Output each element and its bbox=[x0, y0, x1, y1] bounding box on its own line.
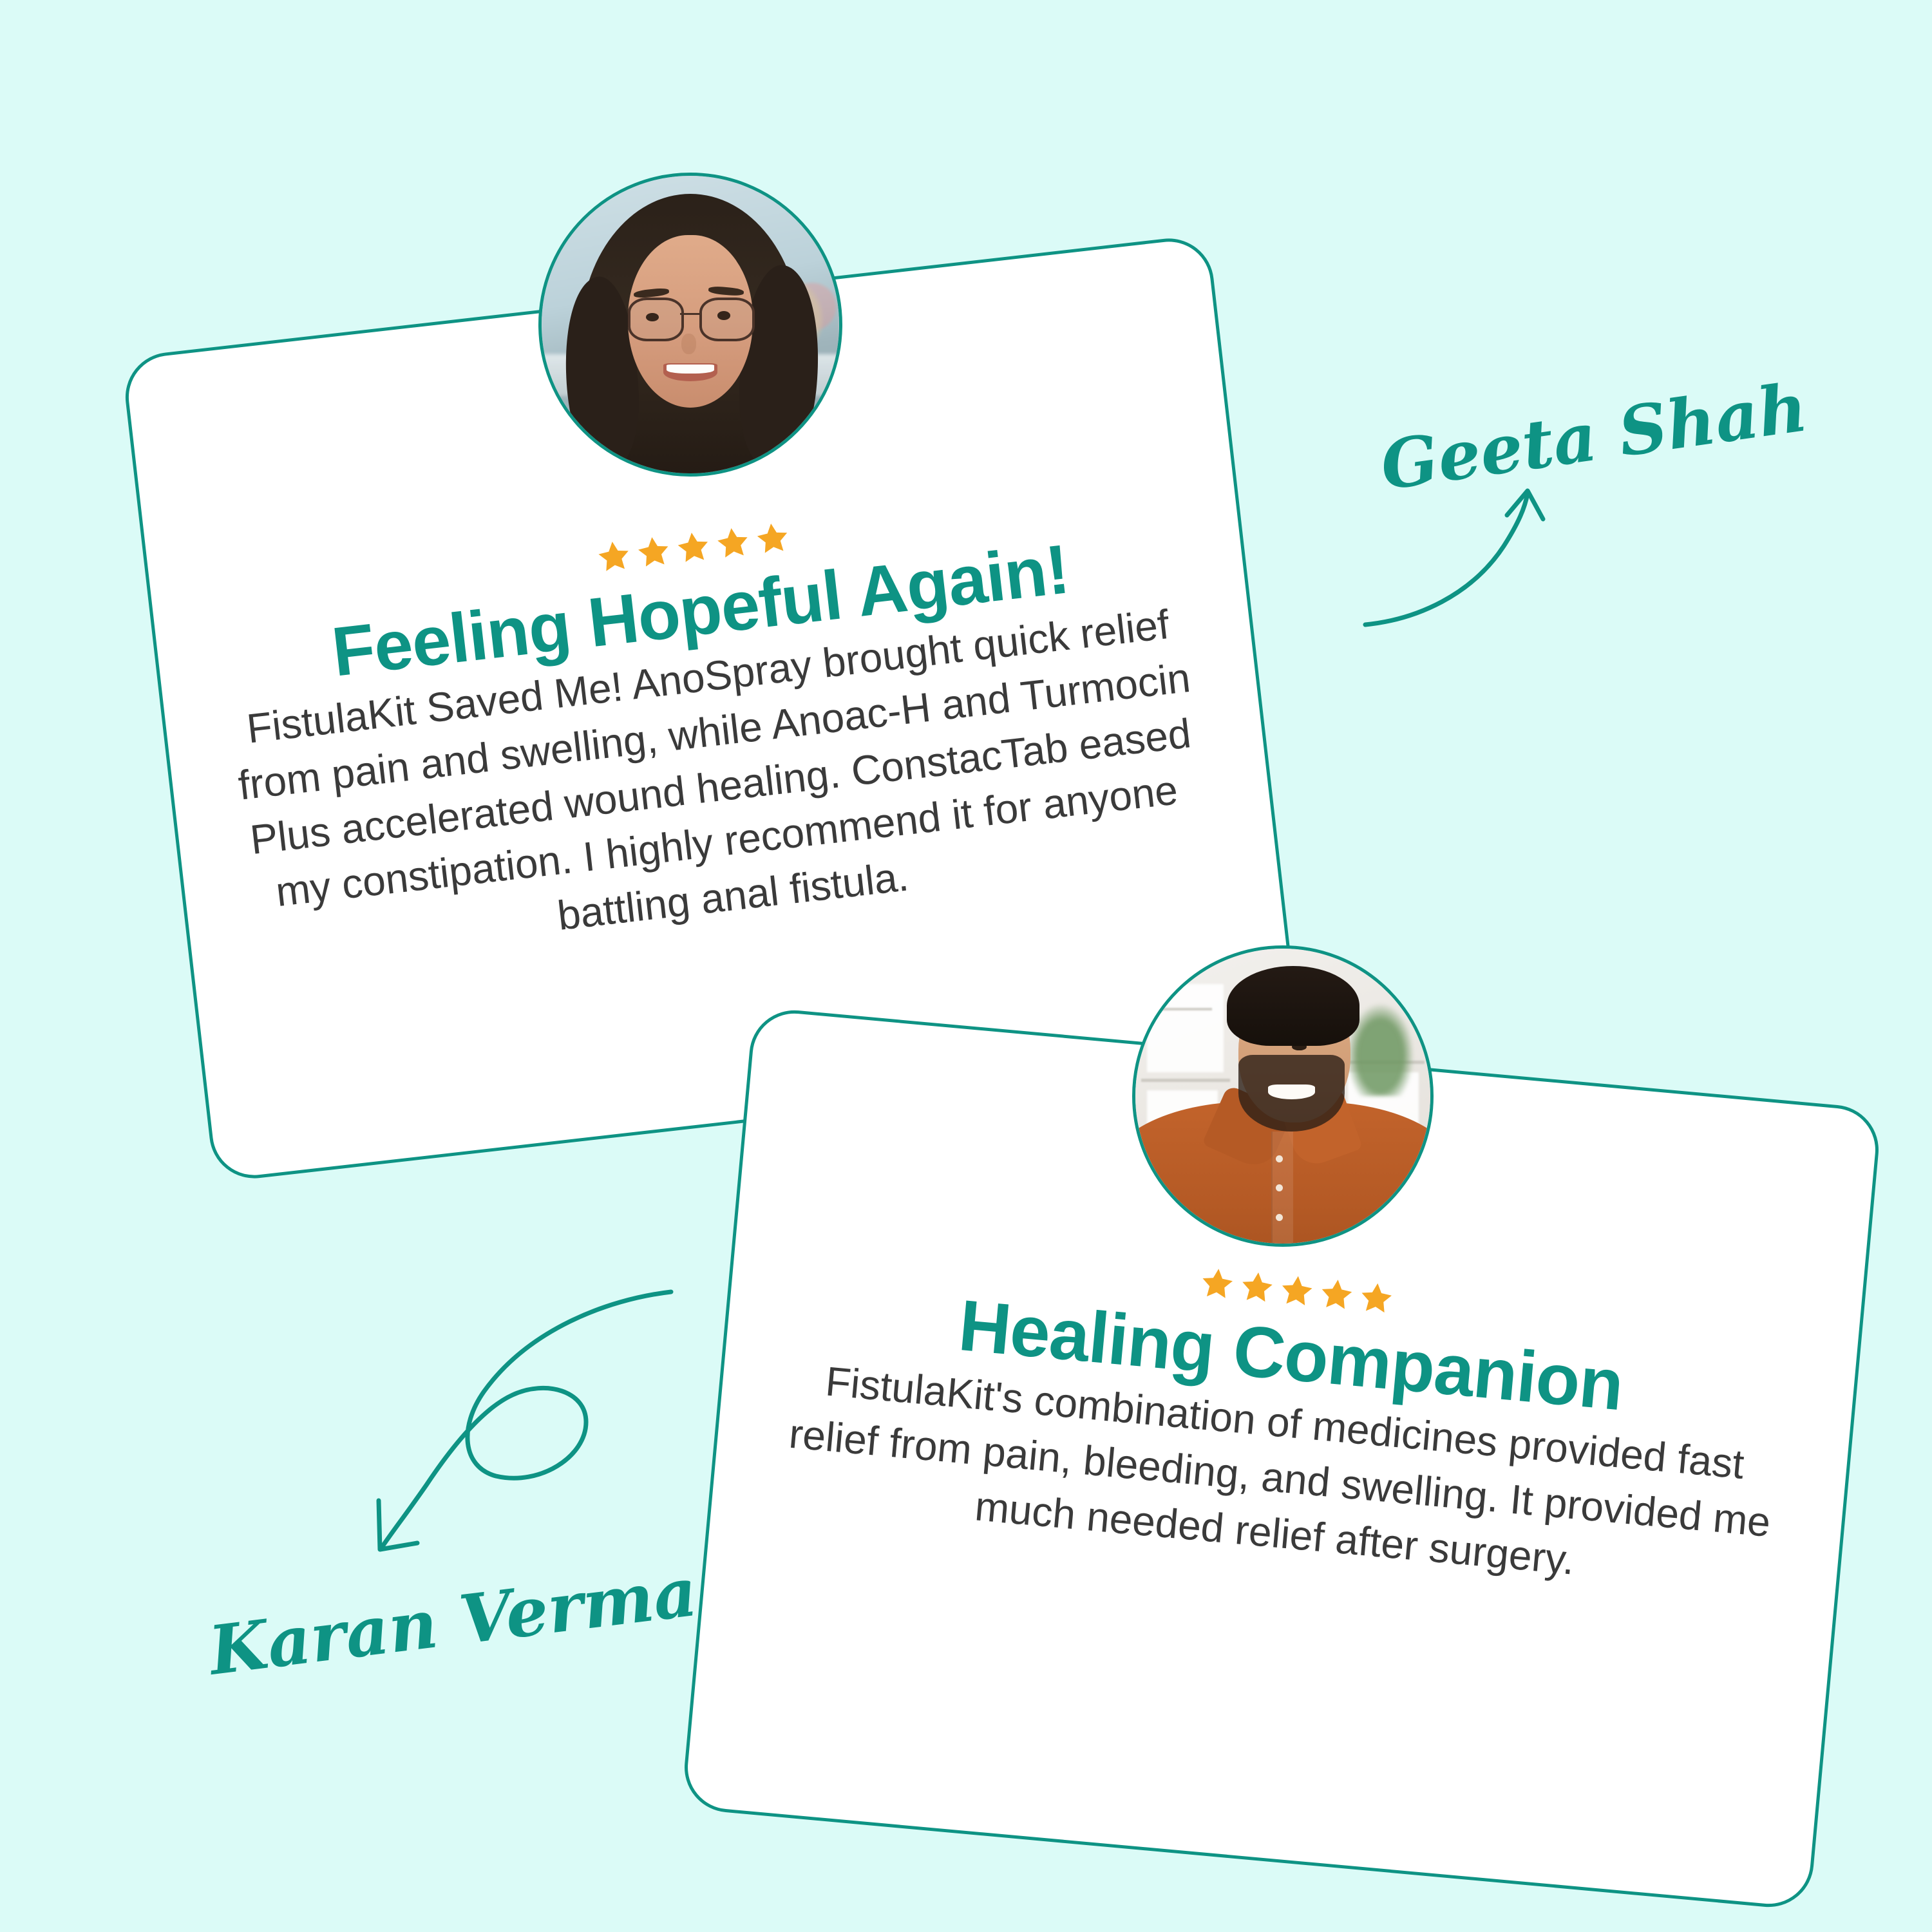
star-icon bbox=[1276, 1271, 1317, 1312]
avatar-geeta-shah bbox=[538, 173, 842, 477]
avatar-photo-woman bbox=[542, 176, 839, 473]
star-icon bbox=[1316, 1274, 1357, 1315]
star-icon bbox=[752, 518, 793, 559]
curved-arrow-up-icon bbox=[1365, 491, 1543, 625]
signature-label-geeta: Geeta Shah bbox=[1376, 367, 1812, 506]
testimonial-poster: Feeling Hopeful Again! FistulaKit Saved … bbox=[0, 0, 1932, 1932]
star-icon bbox=[1197, 1264, 1238, 1304]
star-icon bbox=[712, 522, 753, 563]
testimonial-card-1-content: Feeling Hopeful Again! FistulaKit Saved … bbox=[151, 468, 1277, 985]
star-icon bbox=[593, 536, 634, 578]
star-icon bbox=[1356, 1278, 1397, 1319]
looping-arrow-down-icon bbox=[379, 1292, 671, 1549]
testimonial-card-2-content: Healing Companion FistulaKit's combinati… bbox=[711, 1222, 1860, 1612]
avatar-photo-man bbox=[1135, 949, 1430, 1244]
signature-label-karan: Karan Verma bbox=[203, 1552, 701, 1690]
avatar-karan-verma bbox=[1132, 945, 1434, 1247]
star-icon bbox=[1236, 1267, 1277, 1308]
signature-geeta-shah: Geeta Shah bbox=[1359, 412, 1758, 631]
star-icon bbox=[633, 532, 674, 573]
star-icon bbox=[672, 527, 714, 569]
signature-karan-verma: Karan Verma bbox=[193, 1288, 683, 1700]
